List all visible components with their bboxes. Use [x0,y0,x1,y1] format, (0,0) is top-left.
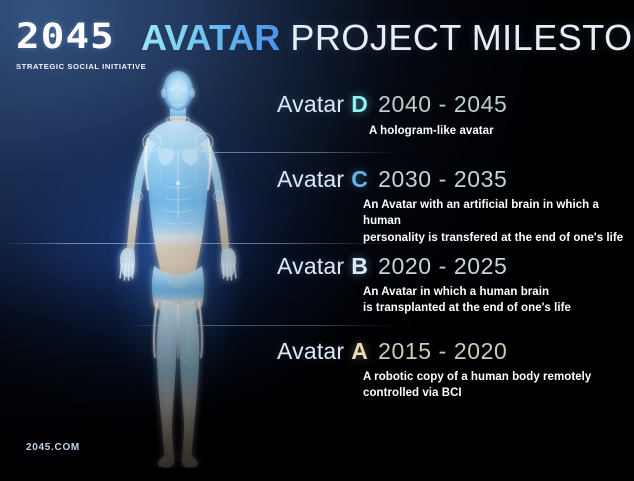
milestone-label: Avatar [277,91,344,117]
divider-line-b-a [130,325,398,326]
milestone-years: 2040 - 2045 [378,91,507,117]
milestone-description: An Avatar in which a human brain is tran… [363,284,571,317]
avatar-figure [78,58,278,468]
milestone-label: Avatar [277,166,344,192]
milestone-years: 2030 - 2035 [378,166,507,192]
milestone-avatar-b: AvatarB2020 - 2025 An Avatar in which a … [277,255,571,317]
milestone-description: An Avatar with an artificial brain in wh… [363,197,634,246]
milestone-label: Avatar [277,253,344,279]
infographic-canvas: 2045 STRATEGIC SOCIAL INITIATIVE AVATAR … [0,0,634,481]
page-title: AVATAR PROJECT MILESTONES [141,20,634,56]
milestone-letter: D [351,91,368,117]
milestone-years: 2020 - 2025 [378,253,507,279]
humanoid-figure-icon [78,58,278,468]
logo-tagline: STRATEGIC SOCIAL INITIATIVE [16,62,154,71]
milestone-description: A robotic copy of a human body remotely … [363,369,591,402]
divider-line-d-c [136,152,398,153]
milestone-letter: B [351,253,368,279]
milestone-years: 2015 - 2020 [378,338,507,364]
milestone-heading: AvatarC2030 - 2035 [277,168,634,191]
milestone-description: A hologram-like avatar [369,123,507,139]
page-title-emphasis: AVATAR [141,17,280,58]
milestone-heading: AvatarA2015 - 2020 [277,340,591,363]
logo[interactable]: 2045 STRATEGIC SOCIAL INITIATIVE [16,20,151,71]
milestone-avatar-a: AvatarA2015 - 2020 A robotic copy of a h… [277,340,591,402]
milestone-letter: A [351,338,368,364]
milestone-heading: AvatarD2040 - 2045 [277,93,507,116]
milestone-label: Avatar [277,338,344,364]
milestone-letter: C [351,166,368,192]
milestone-avatar-d: AvatarD2040 - 2045 A hologram-like avata… [277,93,507,139]
page-title-rest: PROJECT MILESTONES [290,17,634,58]
milestone-avatar-c: AvatarC2030 - 2035 An Avatar with an art… [277,168,634,246]
footer-url[interactable]: 2045.COM [26,442,80,453]
milestone-heading: AvatarB2020 - 2025 [277,255,571,278]
